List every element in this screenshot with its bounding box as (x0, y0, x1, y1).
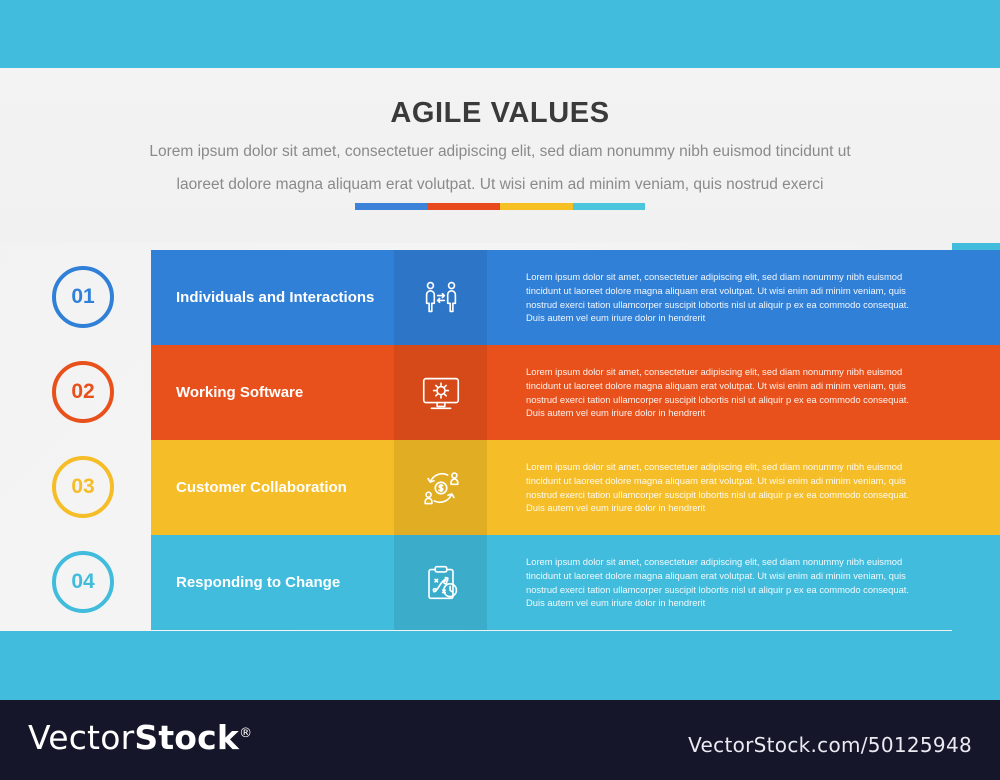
divider-segment-4 (573, 203, 646, 210)
value-row[interactable]: 04Responding to ChangeLorem ipsum dolor … (0, 535, 1000, 630)
value-row[interactable]: 01Individuals and InteractionsLorem ipsu… (0, 250, 1000, 345)
step-number-label: 04 (71, 570, 94, 594)
top-accent-band (0, 0, 1000, 68)
logo-light-text: Vector (28, 718, 134, 757)
value-icon-cell (394, 345, 487, 440)
value-title: Working Software (176, 345, 391, 440)
value-description: Lorem ipsum dolor sit amet, consectetuer… (526, 535, 926, 630)
logo-bold-text: Stock (134, 718, 239, 757)
customer-money-cycle-icon (418, 465, 464, 511)
step-number-label: 01 (71, 285, 94, 309)
value-title: Responding to Change (176, 535, 391, 630)
infographic-canvas: AGILE VALUES Lorem ipsum dolor sit amet,… (0, 0, 1000, 780)
color-divider-bar (355, 203, 645, 210)
value-description-text: Lorem ipsum dolor sit amet, consectetuer… (526, 460, 926, 514)
value-description: Lorem ipsum dolor sit amet, consectetuer… (526, 345, 926, 440)
page-subtitle-line-1: Lorem ipsum dolor sit amet, consectetuer… (60, 130, 940, 163)
value-icon-cell (394, 440, 487, 535)
step-number-label: 03 (71, 475, 94, 499)
vectorstock-logo: VectorStock® (28, 718, 252, 757)
value-icon-cell (394, 250, 487, 345)
value-description-text: Lorem ipsum dolor sit amet, consectetuer… (526, 365, 926, 419)
value-description-text: Lorem ipsum dolor sit amet, consectetuer… (526, 270, 926, 324)
values-list: 01Individuals and InteractionsLorem ipsu… (0, 250, 1000, 630)
page-subtitle-line-2: laoreet dolore magna aliquam erat volutp… (60, 163, 940, 196)
divider-segment-1 (355, 203, 428, 210)
divider-segment-2 (428, 203, 501, 210)
value-row[interactable]: 02Working SoftwareLorem ipsum dolor sit … (0, 345, 1000, 440)
value-description: Lorem ipsum dolor sit amet, consectetuer… (526, 440, 926, 535)
value-title: Individuals and Interactions (176, 250, 391, 345)
registered-mark: ® (239, 726, 252, 741)
value-row[interactable]: 03Customer CollaborationLorem ipsum dolo… (0, 440, 1000, 535)
clipboard-strategy-clock-icon (418, 560, 464, 606)
value-title: Customer Collaboration (176, 440, 391, 535)
monitor-gear-icon (418, 370, 464, 416)
step-number-badge: 03 (52, 456, 114, 518)
page-title: AGILE VALUES (0, 68, 1000, 130)
value-icon-cell (394, 535, 487, 630)
two-people-exchange-icon (418, 275, 464, 321)
value-description: Lorem ipsum dolor sit amet, consectetuer… (526, 250, 926, 345)
step-number-badge: 04 (52, 551, 114, 613)
watermark-url: VectorStock.com/50125948 (688, 733, 972, 757)
step-number-badge: 01 (52, 266, 114, 328)
divider-segment-3 (500, 203, 573, 210)
step-number-label: 02 (71, 380, 94, 404)
value-description-text: Lorem ipsum dolor sit amet, consectetuer… (526, 555, 926, 609)
header: AGILE VALUES Lorem ipsum dolor sit amet,… (0, 68, 1000, 218)
step-number-badge: 02 (52, 361, 114, 423)
